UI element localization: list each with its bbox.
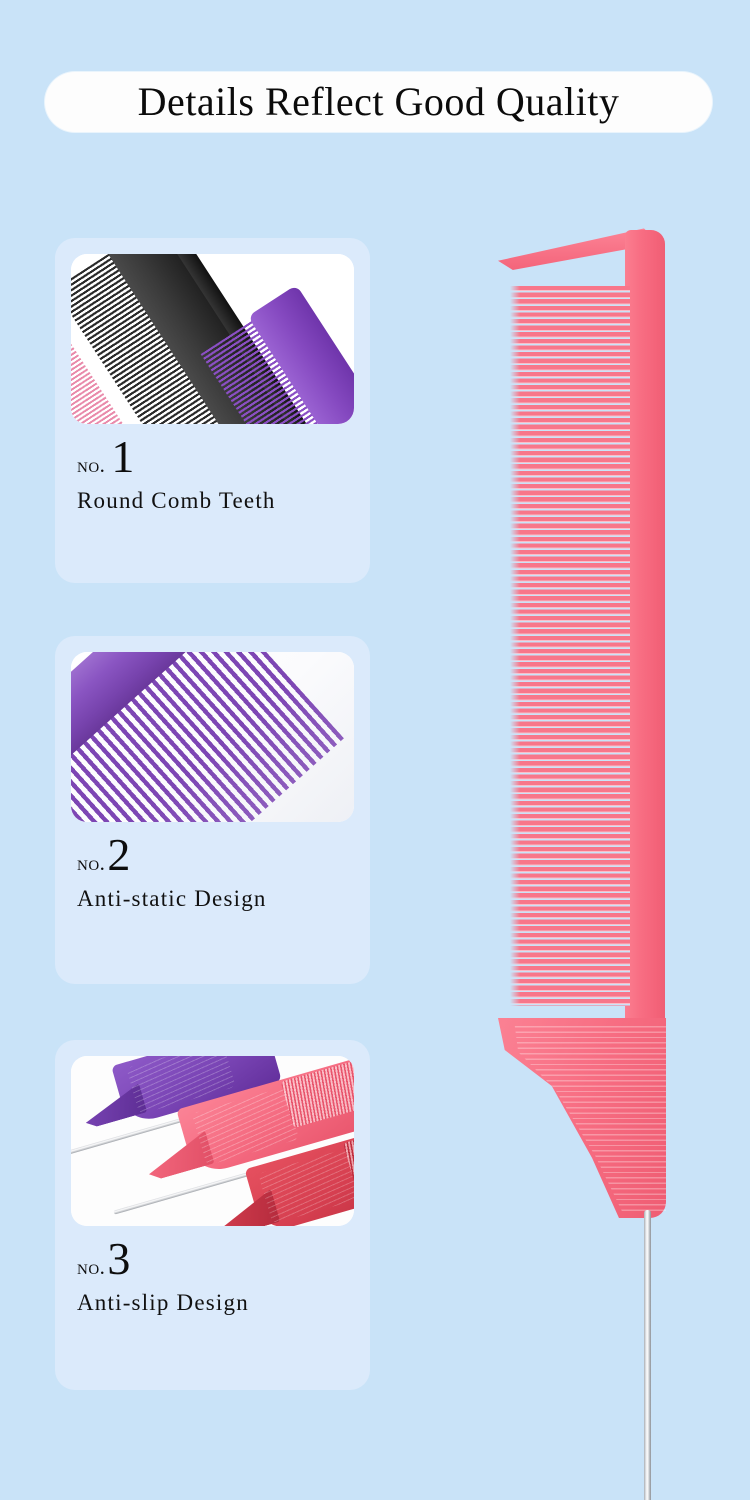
comb-handle-grip-texture: [498, 1026, 666, 1212]
no-value: 2: [107, 834, 130, 875]
feature-number-3: No. 3: [77, 1238, 360, 1286]
feature-photo-1: [71, 254, 354, 424]
feature-text-1: No. 1 Round Comb Teeth: [77, 436, 360, 514]
feature-card-1: No. 1 Round Comb Teeth: [55, 238, 370, 583]
no-prefix: No.: [77, 453, 105, 478]
comb-teeth: [510, 286, 630, 1006]
feature-text-2: No. 2 Anti-static Design: [77, 834, 360, 912]
infographic-page: Details Reflect Good Quality No. 1: [0, 0, 750, 1500]
feature-photo-2: [71, 652, 354, 822]
feature-label-1: Round Comb Teeth: [77, 488, 360, 514]
page-title-pill: Details Reflect Good Quality: [45, 72, 712, 132]
comb-spine: [625, 230, 665, 1035]
feature-number-2: No. 2: [77, 834, 360, 882]
feature-photo-3: [71, 1056, 354, 1226]
feature-card-3: No. 3 Anti-slip Design: [55, 1040, 370, 1390]
no-prefix: No.: [77, 1255, 105, 1280]
page-title: Details Reflect Good Quality: [138, 82, 620, 122]
feature-number-1: No. 1: [77, 436, 360, 484]
feature-card-2: No. 2 Anti-static Design: [55, 636, 370, 984]
comb-teeth-edge-fade: [510, 286, 520, 1006]
no-value: 3: [107, 1238, 130, 1279]
feature-label-3: Anti-slip Design: [77, 1290, 360, 1316]
comb-prong-icon: [498, 228, 646, 270]
no-value: 1: [111, 436, 134, 477]
hero-product-image: [470, 200, 720, 1500]
no-prefix: No.: [77, 851, 105, 876]
feature-label-2: Anti-static Design: [77, 886, 360, 912]
feature-text-3: No. 3 Anti-slip Design: [77, 1238, 360, 1316]
comb-metal-pin-tail: [644, 1210, 651, 1500]
